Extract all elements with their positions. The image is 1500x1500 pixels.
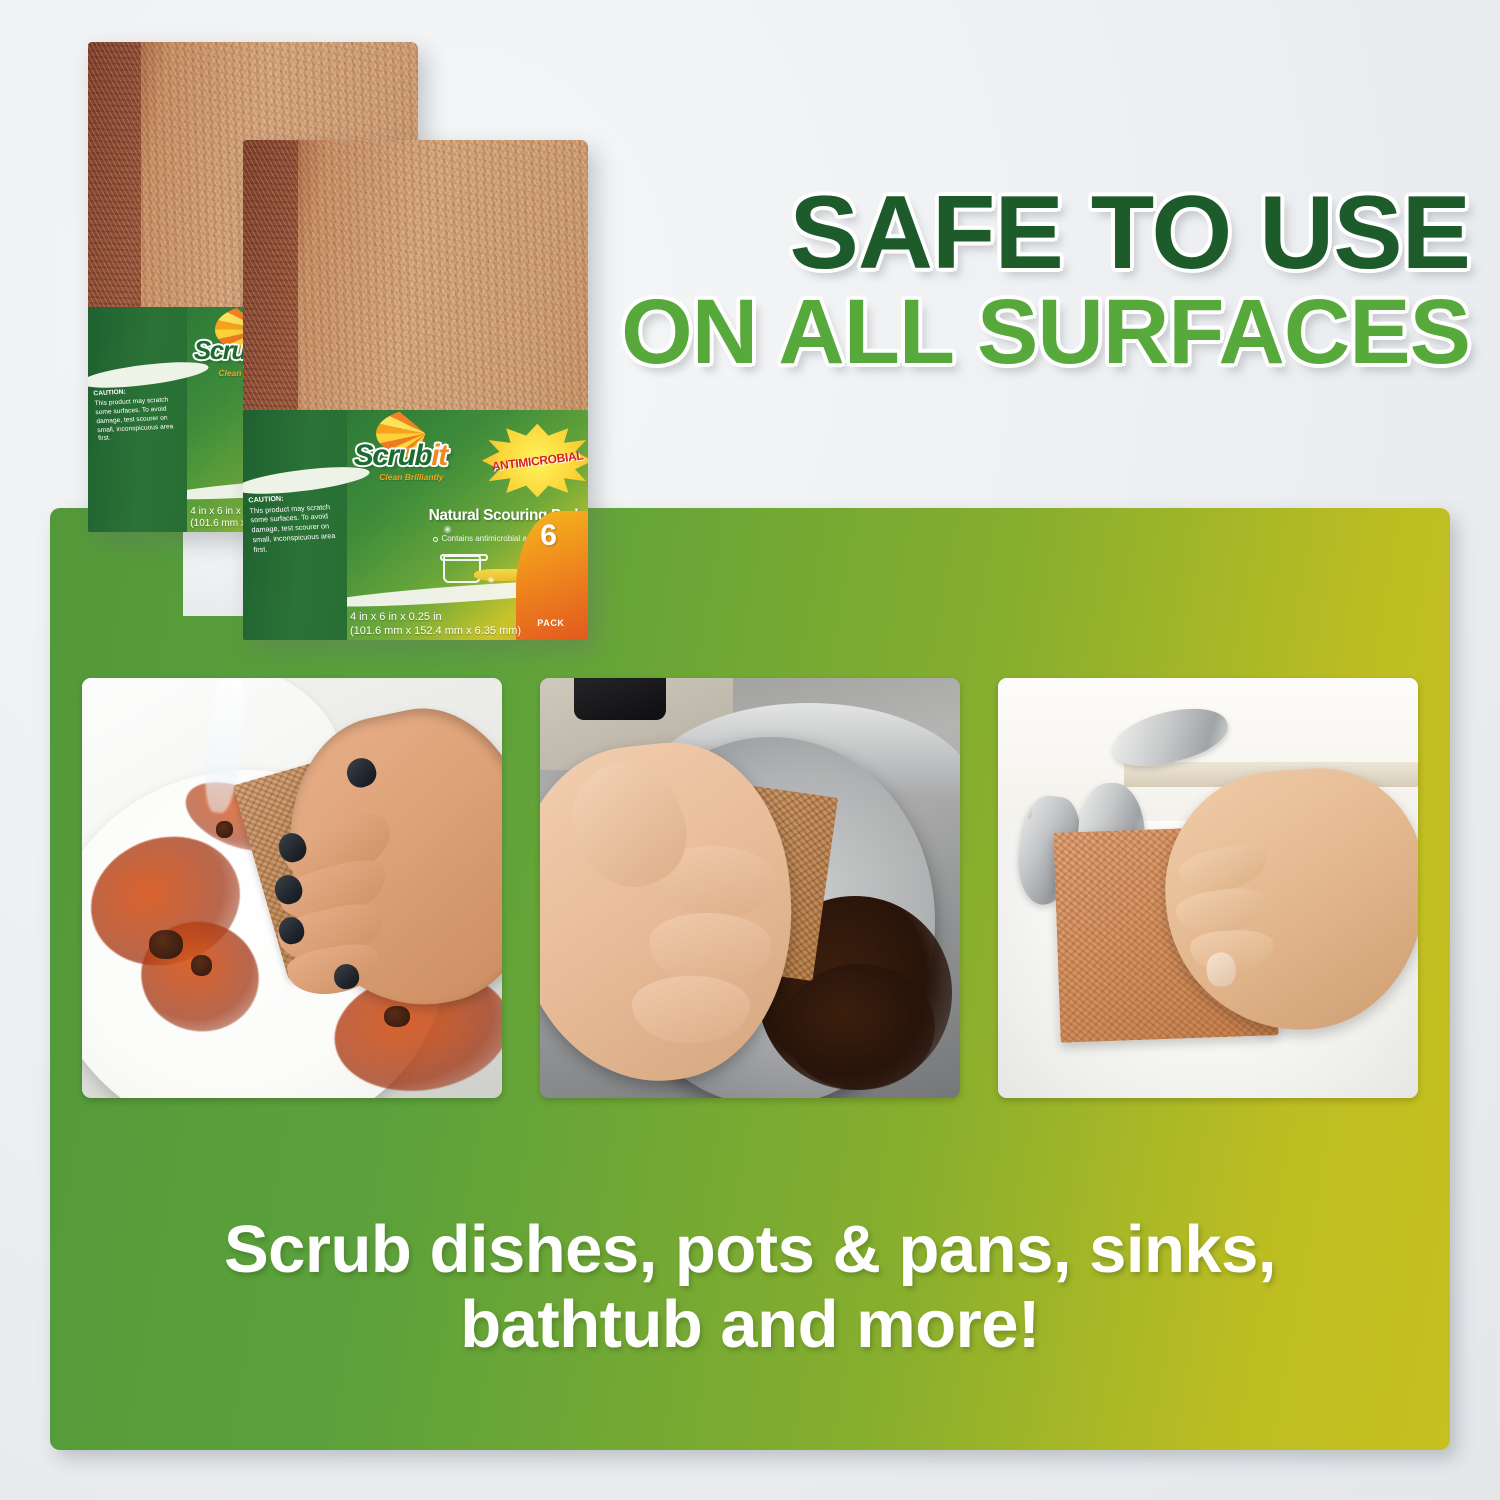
- headline-line-1: SAFE TO USE: [600, 185, 1470, 282]
- bullet-icon: [433, 537, 438, 542]
- finger: [632, 976, 750, 1043]
- usage-caption-line-2: bathtub and more!: [100, 1287, 1400, 1362]
- sleeve-front-panel: Scrubit Clean Brilliantly ANTIMICROBIAL …: [347, 410, 589, 640]
- burnt-residue: [784, 964, 935, 1090]
- sparkle-icon: [443, 525, 452, 534]
- food-residue: [149, 930, 183, 959]
- pack-count-badge: 6 PACK: [516, 511, 588, 640]
- product-package-front[interactable]: Scrubit Clean Brilliantly ANTIMICROBIAL …: [243, 140, 588, 640]
- finger: [1174, 884, 1267, 938]
- dimensions-mm: (101.6 mm x 152.4 mm x 6.35 mm): [350, 625, 521, 638]
- stove: [574, 678, 666, 720]
- brand-word: Scrub: [354, 439, 432, 472]
- headline-block: SAFE TO USE ON ALL SURFACES: [600, 185, 1470, 375]
- photo-tile-row: [82, 678, 1418, 1098]
- headline-line-2: ON ALL SURFACES: [600, 290, 1470, 376]
- usage-caption: Scrub dishes, pots & pans, sinks, bathtu…: [100, 1212, 1400, 1362]
- antimicrobial-badge: ANTIMICROBIAL: [482, 424, 588, 498]
- pack-count-number: 6: [540, 519, 557, 553]
- brand-name: Scrubit: [354, 439, 447, 473]
- package-sleeve: Scrubit Clean Brilliantly ANTIMICROBIAL …: [243, 410, 588, 640]
- photo-tile-pots-and-pans[interactable]: [540, 678, 960, 1098]
- caution-body: This product may scratch some surfaces. …: [249, 502, 336, 554]
- photo-tile-dishes[interactable]: [82, 678, 502, 1098]
- food-residue: [384, 1006, 409, 1027]
- food-residue: [191, 955, 212, 976]
- fingernail: [1206, 952, 1237, 988]
- brand-tagline: Clean Brilliantly: [379, 472, 443, 482]
- product-infographic: SAFE TO USE ON ALL SURFACES: [0, 0, 1500, 1500]
- sparkle-icon: [487, 576, 495, 584]
- brand-suffix: it: [431, 439, 446, 472]
- pot-icon: [443, 555, 482, 582]
- dimensions-inches: 4 in x 6 in x 0.25 in: [350, 611, 521, 624]
- cookware-illustration: [433, 546, 525, 583]
- caution-text: CAUTION: This product may scratch some s…: [93, 386, 184, 445]
- sleeve-side-panel: CAUTION: This product may scratch some s…: [243, 410, 347, 640]
- photo-tile-sinks[interactable]: [998, 678, 1418, 1098]
- usage-caption-line-1: Scrub dishes, pots & pans, sinks,: [100, 1212, 1400, 1287]
- package-dimensions: 4 in x 6 in x 0.25 in (101.6 mm x 152.4 …: [350, 611, 521, 637]
- food-residue: [216, 821, 233, 838]
- antimicrobial-label: ANTIMICROBIAL: [478, 417, 588, 504]
- pack-count-label: PACK: [537, 618, 564, 628]
- sleeve-side-panel: CAUTION: This product may scratch some s…: [88, 307, 187, 532]
- caution-body: This product may scratch some surfaces. …: [94, 396, 173, 442]
- caution-text: CAUTION: This product may scratch some s…: [248, 491, 343, 555]
